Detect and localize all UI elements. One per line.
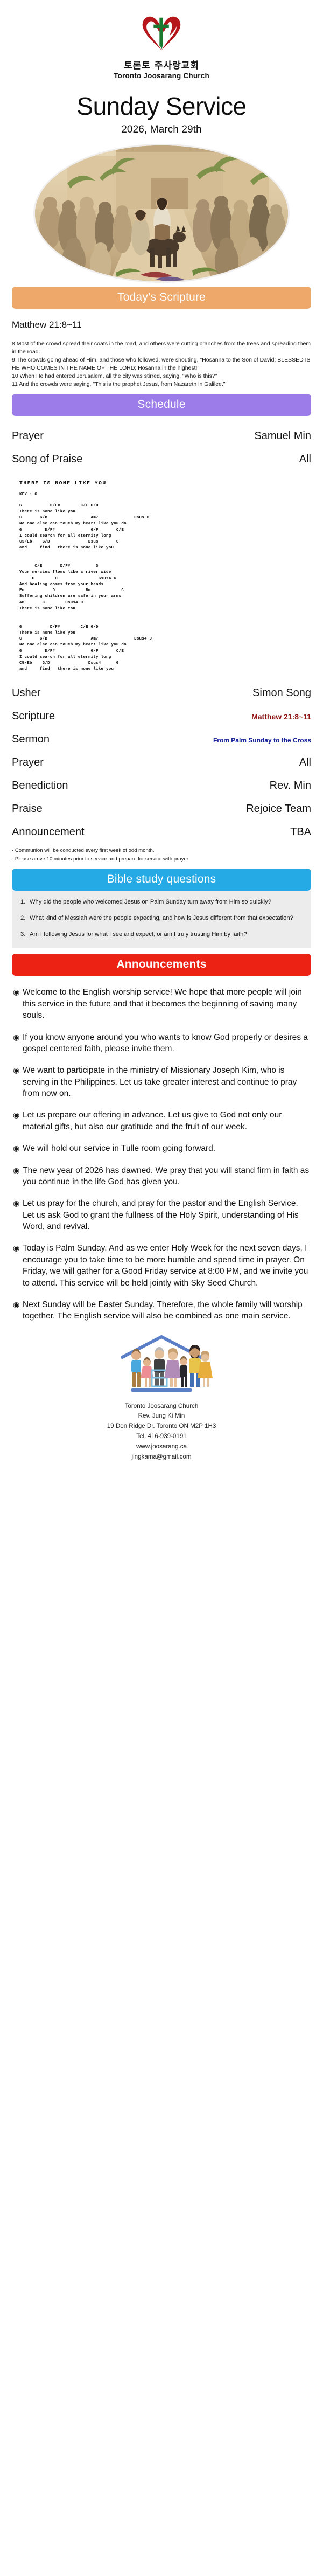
list-item: ◉ Today is Palm Sunday. And as we enter …: [13, 1242, 310, 1289]
church-name-korean: 토론토 주사랑교회: [0, 60, 323, 71]
announcement-text: Next Sunday will be Easter Sunday. There…: [23, 1299, 310, 1322]
list-item: 3. Am I following Jesus for what I see a…: [20, 931, 303, 939]
scripture-verses: 8 Most of the crowd spread their coats i…: [12, 340, 311, 388]
schedule-banner: Schedule: [12, 394, 311, 416]
bulletin-page: 토론토 주사랑교회 Toronto Joosarang Church Sunda…: [0, 0, 323, 1476]
footer-contact-info: Toronto Joosarang Church Rev. Jung Ki Mi…: [0, 1401, 323, 1462]
announcement-text: Let us pray for the church, and pray for…: [23, 1198, 310, 1232]
table-row: Scripture Matthew 21:8~11: [12, 705, 311, 728]
note-arrival: · Please arrive 10 minutes prior to serv…: [12, 856, 311, 863]
schedule-label: Song of Praise: [12, 453, 82, 466]
schedule-value: All: [299, 756, 311, 769]
hero-image-wrap: [0, 145, 323, 281]
note-communion: · Communion will be conducted every firs…: [12, 847, 311, 855]
list-item: 1. Why did the people who welcomed Jesus…: [20, 898, 303, 907]
question-number: 2.: [20, 914, 30, 923]
schedule-value: TBA: [290, 826, 311, 838]
schedule-value: Rejoice Team: [246, 803, 311, 815]
footer-tel: Tel. 416-939-0191: [0, 1432, 323, 1442]
schedule-label: Sermon: [12, 733, 50, 746]
question-text: Am I following Jesus for what I see and …: [30, 931, 303, 939]
song-key: KEY : G: [19, 492, 37, 497]
announcement-text: If you know anyone around you who wants …: [23, 1032, 310, 1055]
announcement-text: We will hold our service in Tulle room g…: [23, 1143, 310, 1154]
footer-church-name: Toronto Joosarang Church: [0, 1401, 323, 1412]
table-row: Benediction Rev. Min: [12, 774, 311, 797]
verse-8: 8 Most of the crowd spread their coats i…: [12, 340, 311, 356]
announcement-text: Welcome to the English worship service! …: [23, 987, 310, 1021]
announcement-text: The new year of 2026 has dawned. We pray…: [23, 1165, 310, 1188]
list-item: ◉ We want to participate in the ministry…: [13, 1065, 310, 1099]
bible-study-box: 1. Why did the people who welcomed Jesus…: [12, 891, 311, 948]
bullet-icon: ◉: [13, 987, 23, 997]
list-item: ◉ We will hold our service in Tulle room…: [13, 1143, 310, 1154]
schedule-value: Samuel Min: [254, 430, 311, 442]
cross-and-flame-logo-icon: [137, 10, 186, 59]
table-row: Sermon From Palm Sunday to the Cross: [12, 728, 311, 751]
list-item: ◉ Let us prepare our offering in advance…: [13, 1109, 310, 1133]
list-item: ◉ If you know anyone around you who want…: [13, 1032, 310, 1055]
verse-10: 10 When He had entered Jerusalem, all th…: [12, 372, 311, 380]
church-logo-block: 토론토 주사랑교회 Toronto Joosarang Church: [0, 0, 323, 80]
page-title: Sunday Service: [0, 94, 323, 119]
table-row: Praise Rejoice Team: [12, 797, 311, 821]
list-item: ◉ Let us pray for the church, and pray f…: [13, 1198, 310, 1232]
church-name-english: Toronto Joosarang Church: [0, 72, 323, 80]
schedule-value-sermon: From Palm Sunday to the Cross: [213, 737, 311, 744]
question-number: 1.: [20, 898, 30, 907]
bullet-icon: ◉: [13, 1143, 23, 1154]
verse-11: 11 And the crowds were saying, "This is …: [12, 380, 311, 388]
schedule-value: Simon Song: [252, 687, 311, 699]
announcements-list: ◉ Welcome to the English worship service…: [13, 987, 310, 1322]
question-text: What kind of Messiah were the people exp…: [30, 914, 303, 923]
announcements-banner: Announcements: [12, 954, 311, 976]
bullet-icon: ◉: [13, 1242, 23, 1253]
song-chart-body: G D/F# C/E G/D There is none like you C …: [19, 504, 152, 672]
footer-website[interactable]: www.joosarang.ca: [0, 1442, 323, 1452]
footer-pastor: Rev. Jung Ki Min: [0, 1411, 323, 1421]
palm-sunday-illustration: [35, 145, 288, 281]
bullet-icon: ◉: [13, 1065, 23, 1075]
schedule-label: Praise: [12, 803, 43, 815]
bible-study-banner: Bible study questions: [12, 869, 311, 891]
schedule-label: Prayer: [12, 430, 44, 442]
footer-address: 19 Don Ridge Dr. Toronto ON M2P 1H3: [0, 1421, 323, 1432]
todays-scripture-banner: Today’s Scripture: [12, 287, 311, 309]
bullet-icon: ◉: [13, 1299, 23, 1310]
bullet-icon: ◉: [13, 1165, 23, 1176]
schedule-table-top: Prayer Samuel Min Song of Praise All: [12, 425, 311, 471]
song-chord-chart: THERE IS NONE LIKE YOUKEY : GG D/F# C/E …: [19, 480, 311, 673]
table-row: Song of Praise All: [12, 448, 311, 471]
list-item: ◉ Welcome to the English worship service…: [13, 987, 310, 1021]
schedule-label: Usher: [12, 687, 40, 699]
question-number: 3.: [20, 931, 30, 939]
schedule-label: Scripture: [12, 710, 55, 723]
table-row: Announcement TBA: [12, 821, 311, 844]
palm-sunday-scene-icon: [35, 145, 288, 281]
footer-email[interactable]: jingkama@gmail.com: [0, 1452, 323, 1462]
announcement-text: Let us prepare our offering in advance. …: [23, 1109, 310, 1133]
scripture-reference: Matthew 21:8~11: [12, 320, 311, 330]
table-row: Prayer All: [12, 751, 311, 774]
list-item: 2. What kind of Messiah were the people …: [20, 914, 303, 923]
table-row: Prayer Samuel Min: [12, 425, 311, 448]
bullet-icon: ◉: [13, 1198, 23, 1209]
announcement-text: We want to participate in the ministry o…: [23, 1065, 310, 1099]
verse-9: 9 The crowds going ahead of Him, and tho…: [12, 356, 311, 372]
bullet-icon: ◉: [13, 1109, 23, 1120]
schedule-value-scripture: Matthew 21:8~11: [251, 712, 311, 721]
schedule-label: Prayer: [12, 756, 44, 769]
table-row: Usher Simon Song: [12, 682, 311, 705]
schedule-value: Rev. Min: [270, 780, 311, 792]
service-notes: · Communion will be conducted every firs…: [12, 847, 311, 864]
service-date: 2026, March 29th: [0, 124, 323, 136]
schedule-value: All: [299, 453, 311, 466]
schedule-label: Announcement: [12, 826, 85, 838]
bullet-icon: ◉: [13, 1032, 23, 1043]
footer: Toronto Joosarang Church Rev. Jung Ki Mi…: [0, 1332, 323, 1476]
schedule-label: Benediction: [12, 780, 68, 792]
list-item: ◉ The new year of 2026 has dawned. We pr…: [13, 1165, 310, 1188]
church-family-illustration-icon: [110, 1332, 213, 1397]
announcement-text: Today is Palm Sunday. And as we enter Ho…: [23, 1242, 310, 1289]
song-title: THERE IS NONE LIKE YOU: [19, 480, 311, 488]
list-item: ◉ Next Sunday will be Easter Sunday. The…: [13, 1299, 310, 1322]
schedule-table-bottom: Usher Simon Song Scripture Matthew 21:8~…: [12, 682, 311, 844]
question-text: Why did the people who welcomed Jesus on…: [30, 898, 303, 907]
